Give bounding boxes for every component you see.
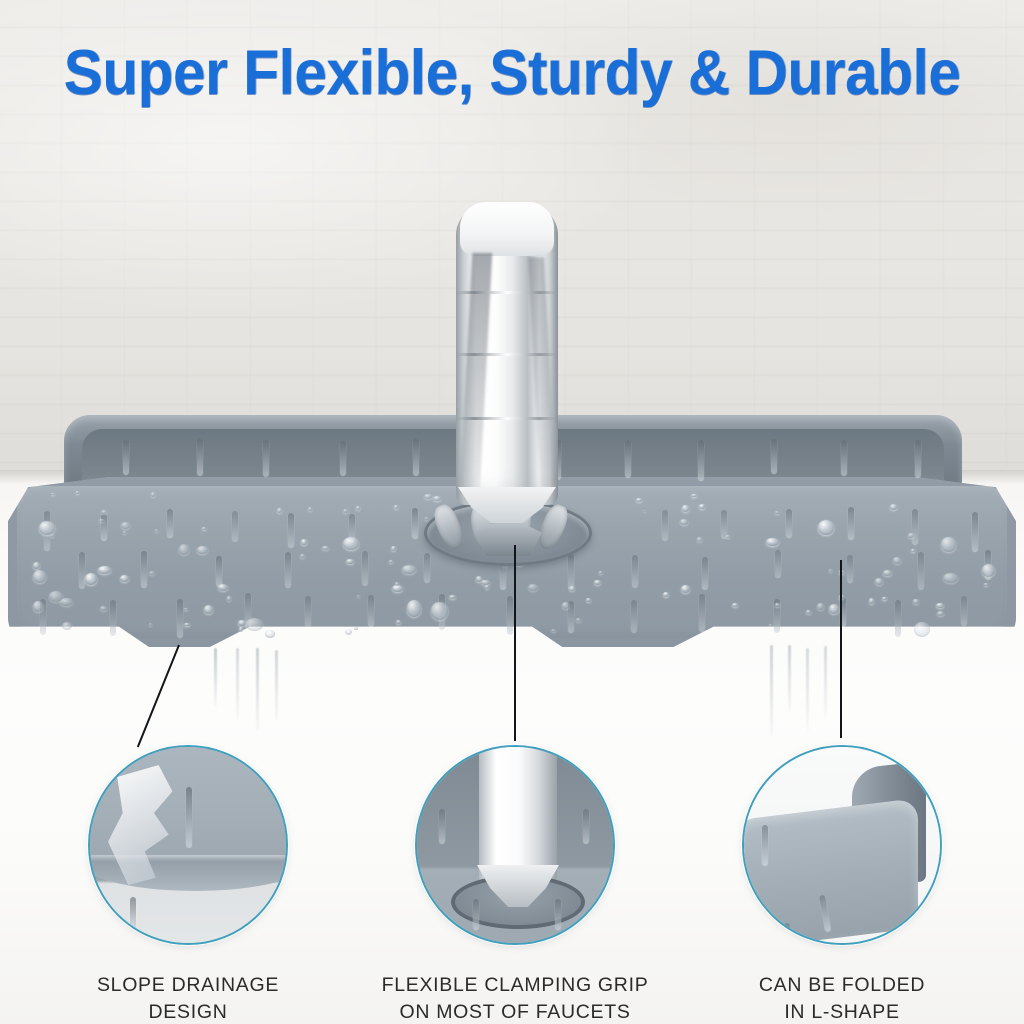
mat-rib	[232, 511, 238, 541]
water-droplet	[449, 595, 455, 599]
faucet-band	[456, 291, 558, 294]
caption-line-1: CAN BE FOLDED	[692, 972, 992, 999]
water-droplet	[681, 585, 690, 593]
water-droplet	[913, 599, 918, 603]
caption-clamping-grip: FLEXIBLE CLAMPING GRIP ON MOST OF FAUCET…	[365, 972, 665, 1024]
faucet-skirt	[458, 487, 556, 523]
water-droplet	[346, 559, 353, 564]
water-droplet	[937, 611, 945, 616]
water-droplet	[682, 505, 688, 512]
water-droplet	[829, 604, 839, 614]
water-droplet	[238, 620, 246, 626]
mat-rib	[848, 507, 854, 539]
mat-rib	[583, 809, 589, 843]
water-droplet	[766, 538, 778, 546]
mat-folded-horizontal-section	[742, 798, 918, 945]
mat-rib	[662, 510, 668, 540]
callout-clamping-grip[interactable]	[415, 745, 615, 945]
water-droplet	[98, 566, 110, 574]
water-droplet	[155, 529, 158, 532]
page-title: Super Flexible, Sturdy & Durable	[64, 40, 961, 106]
water-droplet	[39, 521, 55, 535]
faucet-band	[456, 353, 558, 356]
water-stream	[806, 648, 809, 731]
mat-rib	[555, 899, 561, 929]
water-droplet	[984, 583, 988, 586]
water-droplet	[239, 627, 243, 631]
water-droplet	[911, 549, 915, 552]
mat-rib	[288, 513, 294, 547]
caption-slope-drainage: SLOPE DRAINAGE DESIGN	[38, 972, 338, 1024]
water-droplet	[33, 570, 46, 584]
water-droplet	[85, 573, 98, 584]
water-droplet	[663, 592, 669, 597]
water-droplet	[179, 544, 190, 555]
water-droplet	[594, 580, 601, 585]
mat-rib	[631, 600, 637, 633]
water-droplet	[33, 562, 40, 569]
mat-rib	[702, 557, 708, 588]
mat-rib	[110, 600, 116, 635]
water-droplet	[396, 620, 401, 624]
water-droplet	[202, 527, 206, 530]
water-droplet	[914, 622, 930, 637]
water-stream	[236, 648, 239, 721]
water-droplet	[151, 492, 155, 497]
mat-rib	[507, 596, 513, 635]
water-stream	[256, 648, 259, 731]
water-droplet	[875, 578, 883, 585]
water-droplet	[33, 601, 43, 612]
water-droplet	[121, 522, 130, 529]
mat-rib	[412, 508, 418, 538]
water-droplet	[699, 504, 705, 509]
water-droplet	[890, 504, 897, 510]
mat-rib	[130, 897, 136, 931]
water-droplet	[265, 630, 275, 637]
water-droplet	[149, 571, 154, 575]
water-droplet	[356, 506, 360, 509]
mat-rib	[771, 439, 777, 474]
water-droplet	[100, 606, 107, 611]
water-droplet	[354, 627, 357, 629]
water-droplet	[941, 537, 956, 553]
water-droplet	[893, 557, 901, 564]
mat-rib	[305, 596, 311, 628]
mat-rib	[413, 439, 419, 475]
water-droplet	[775, 511, 779, 514]
water-stream	[824, 646, 827, 717]
water-droplet	[643, 510, 646, 512]
mat-rib	[197, 439, 203, 474]
water-stream	[788, 645, 791, 712]
water-droplet	[322, 546, 328, 550]
pointer-line-clamping-grip	[514, 545, 516, 741]
faucet-band	[456, 417, 558, 420]
water-droplet	[301, 539, 307, 545]
water-droplet	[246, 618, 263, 630]
mat-rib	[263, 440, 269, 476]
water-stream	[770, 645, 773, 737]
caption-line-2: ON MOST OF FAUCETS	[365, 999, 665, 1024]
water-droplet	[680, 519, 688, 524]
mat-rib	[473, 899, 479, 929]
water-droplet	[732, 603, 738, 607]
caption-line-2: IN L-SHAPE	[692, 999, 992, 1024]
mat-rib	[698, 440, 704, 480]
mat-rib	[186, 787, 192, 847]
faucet-cap	[460, 202, 554, 256]
faucet-column-detail	[479, 745, 557, 885]
water-droplet	[402, 565, 416, 574]
water-stream	[214, 648, 217, 706]
mat-rib	[915, 440, 921, 477]
water-droplet	[869, 598, 875, 604]
water-droplet	[818, 520, 834, 535]
water-droplet	[345, 629, 352, 635]
mat-rib	[123, 440, 129, 475]
mat-rib	[918, 552, 924, 590]
water-droplet	[943, 573, 958, 583]
callout-slope-drainage[interactable]	[88, 745, 288, 945]
mat-rib	[625, 440, 631, 478]
water-droplet	[883, 570, 893, 576]
mat-rib	[285, 552, 291, 587]
mat-rib	[167, 509, 173, 537]
mat-rib	[101, 514, 107, 541]
water-droplet	[123, 531, 126, 534]
headline-container: Super Flexible, Sturdy & Durable	[0, 40, 1024, 106]
mat-rib	[912, 509, 918, 544]
mat-rib	[841, 440, 847, 475]
water-droplet	[343, 537, 359, 550]
mat-rib	[786, 509, 792, 537]
water-droplet	[300, 554, 304, 558]
mat-rib	[177, 599, 183, 637]
faucet-illustration	[448, 205, 566, 535]
mat-rib	[368, 595, 374, 625]
water-droplet	[76, 491, 79, 493]
mat-rib	[362, 551, 368, 585]
water-droplet	[775, 603, 779, 607]
mat-rib	[775, 550, 781, 577]
mat-rib	[439, 809, 445, 843]
mat-rib	[895, 600, 901, 636]
callout-folded-l-shape[interactable]	[742, 745, 942, 945]
caption-folded-l-shape: CAN BE FOLDED IN L-SHAPE	[692, 972, 992, 1024]
pointer-line-folded-l-shape	[840, 560, 842, 738]
infographic-stage: Super Flexible, Sturdy & Durable	[0, 0, 1024, 1024]
mat-rib	[762, 825, 768, 865]
water-droplet	[204, 605, 213, 614]
caption-line-1: SLOPE DRAINAGE	[38, 972, 338, 999]
water-droplet	[407, 600, 422, 616]
mat-rib	[699, 594, 705, 631]
water-droplet	[576, 618, 580, 622]
mat-rib	[340, 441, 346, 475]
water-stream	[275, 650, 278, 721]
mat-rib	[972, 512, 978, 552]
mat-rib	[847, 555, 853, 582]
caption-line-1: FLEXIBLE CLAMPING GRIP	[365, 972, 665, 999]
mat-rib	[216, 556, 222, 586]
water-droplet	[636, 498, 642, 502]
mat-rib	[632, 555, 638, 587]
water-droplet	[392, 585, 402, 592]
mat-rib	[721, 510, 727, 538]
water-droplet	[62, 622, 72, 630]
mat-rib	[141, 551, 147, 586]
mat-rib	[79, 552, 85, 587]
caption-line-2: DESIGN	[38, 999, 338, 1024]
water-droplet	[599, 571, 603, 574]
water-droplet	[982, 564, 995, 576]
water-droplet	[431, 602, 447, 619]
mat-rib	[961, 596, 967, 625]
